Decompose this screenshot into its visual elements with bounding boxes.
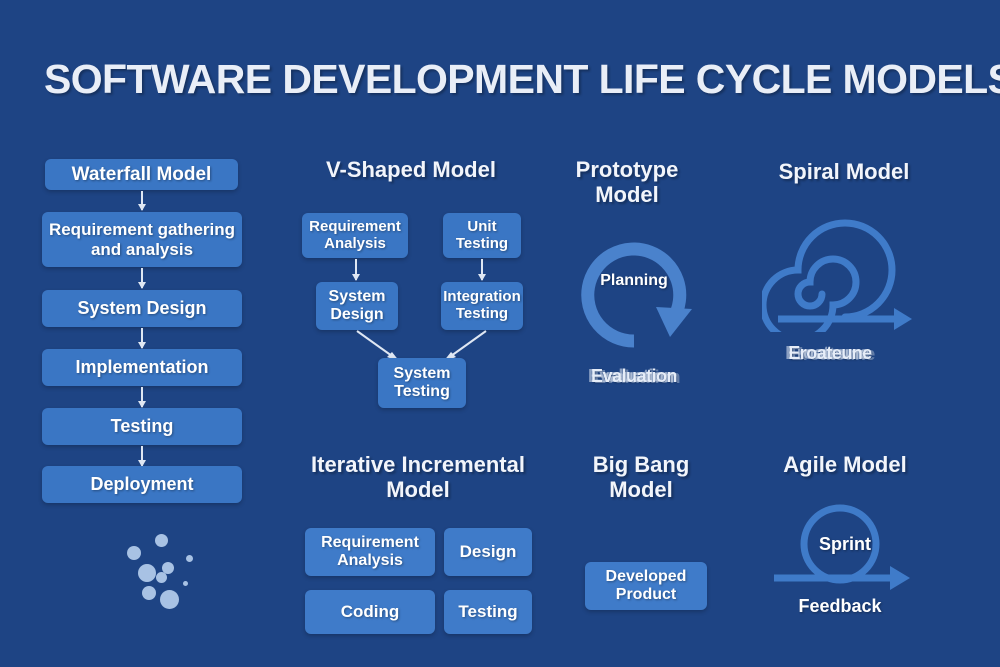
- page-title: SOFTWARE DEVELOPMENT LIFE CYCLE MODELS: [44, 56, 956, 103]
- prototype-title: Prototype Model: [546, 158, 708, 207]
- bigbang-box: Developed Product: [585, 562, 707, 610]
- vshaped-left-arrow: [355, 259, 357, 280]
- vshaped-left-box-1: Requirement Analysis: [302, 213, 408, 258]
- spiral-title: Spiral Model: [733, 160, 955, 185]
- waterfall-step-5: Deployment: [42, 466, 242, 503]
- iterative-box-2: Design: [444, 528, 532, 576]
- iterative-box-4: Testing: [444, 590, 532, 634]
- vshaped-right-box-1: Unit Testing: [443, 213, 521, 258]
- dot: [186, 555, 193, 562]
- iterative-box-3: Coding: [305, 590, 435, 634]
- vshaped-title: V-Shaped Model: [300, 158, 522, 183]
- waterfall-arrow-4: [141, 387, 143, 407]
- dot: [160, 590, 179, 609]
- waterfall-arrow-3: [141, 328, 143, 348]
- dot: [127, 546, 141, 560]
- waterfall-arrow-5: [141, 446, 143, 466]
- vshaped-right-box-2: Integration Testing: [441, 282, 523, 330]
- waterfall-title-box: Waterfall Model: [45, 159, 238, 190]
- waterfall-step-2: System Design: [42, 290, 242, 327]
- waterfall-step-1: Requirement gathering and analysis: [42, 212, 242, 267]
- dot: [183, 581, 188, 586]
- dot: [138, 564, 156, 582]
- waterfall-step-4: Testing: [42, 408, 242, 445]
- spiral-bottom-label: Eroateune: [764, 343, 896, 364]
- dot: [142, 586, 156, 600]
- dot: [155, 534, 168, 547]
- agile-title: Agile Model: [737, 453, 953, 478]
- infographic-canvas: SOFTWARE DEVELOPMENT LIFE CYCLE MODELS W…: [0, 0, 1000, 667]
- dot: [156, 572, 167, 583]
- bigbang-title: Big Bang Model: [560, 453, 722, 502]
- prototype-bottom-label: Evaluation: [568, 366, 700, 387]
- waterfall-arrow-1: [141, 191, 143, 210]
- spiral-icon: [762, 212, 922, 332]
- iterative-title: Iterative Incremental Model: [296, 453, 540, 502]
- agile-center-label: Sprint: [770, 534, 920, 555]
- waterfall-step-3: Implementation: [42, 349, 242, 386]
- prototype-center-label: Planning: [570, 272, 698, 290]
- iterative-box-1: Requirement Analysis: [305, 528, 435, 576]
- circular-arrow-icon: [570, 233, 698, 353]
- vshaped-right-arrow: [481, 259, 483, 280]
- waterfall-arrow-2: [141, 268, 143, 288]
- vshaped-bottom-box: System Testing: [378, 358, 466, 408]
- agile-bottom-label: Feedback: [774, 596, 906, 617]
- vshaped-left-box-2: System Design: [316, 282, 398, 330]
